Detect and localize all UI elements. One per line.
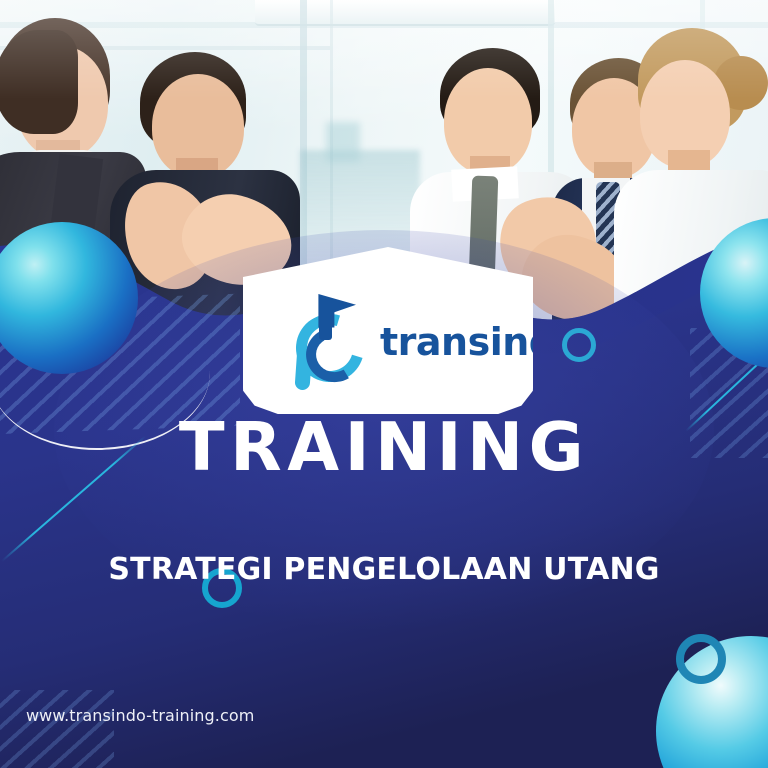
diagonal-stripes-bottom-left	[0, 690, 114, 768]
training-poster: transindo TRAINING STRATEGI PENGELOLAAN …	[0, 0, 768, 768]
ring-on-sphere-icon	[676, 634, 726, 684]
page-title: TRAINING	[0, 414, 768, 481]
transindo-logo-icon	[290, 292, 376, 384]
website-url: www.transindo-training.com	[26, 706, 254, 725]
ring-accent-icon	[562, 328, 596, 362]
logo-card: transindo	[243, 247, 533, 414]
page-subtitle: STRATEGI PENGELOLAAN UTANG	[0, 552, 768, 588]
